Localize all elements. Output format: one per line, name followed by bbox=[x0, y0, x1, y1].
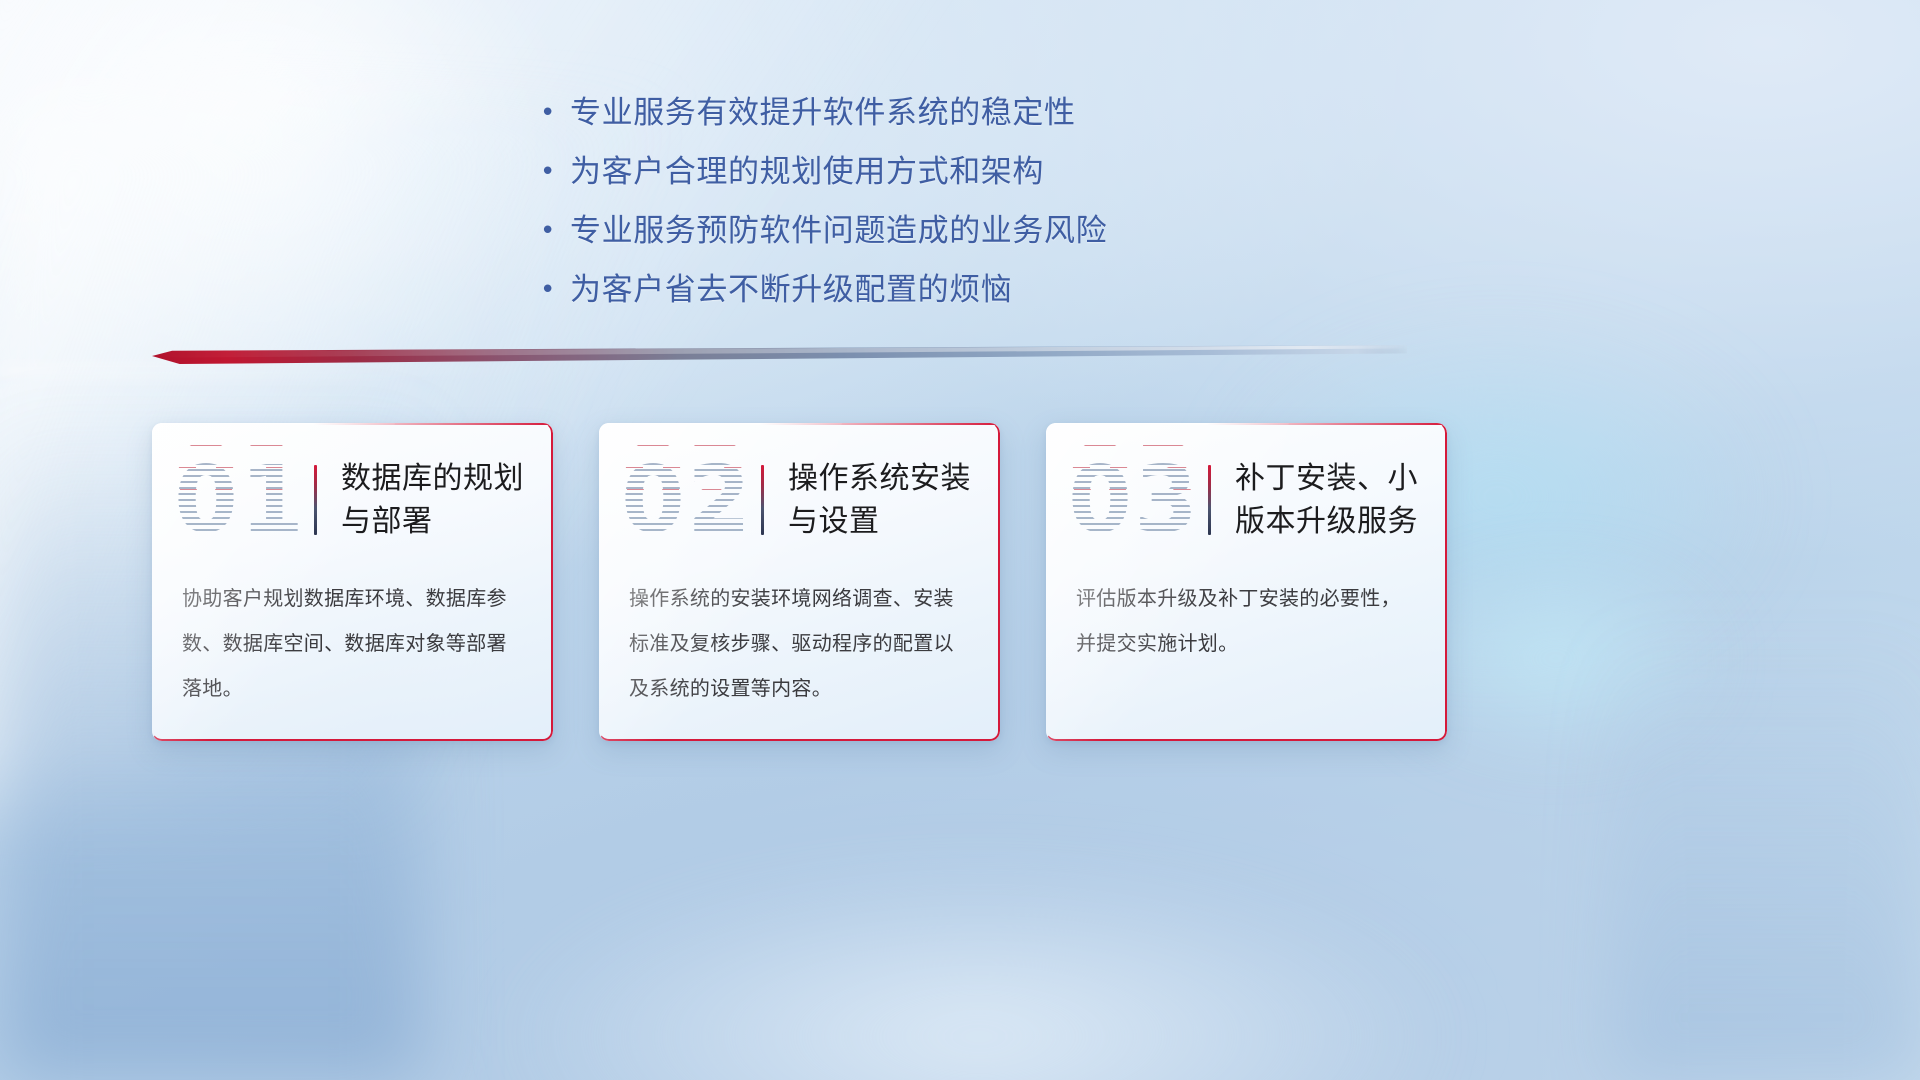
bullet-dot-icon: • bbox=[540, 151, 570, 193]
benefits-bullet-list: • 专业服务有效提升软件系统的稳定性 • 为客户合理的规划使用方式和架构 • 专… bbox=[540, 92, 1107, 311]
card-header: 02 02 操作系统安装与设置 bbox=[599, 423, 1000, 577]
background-right-shade bbox=[1613, 626, 1920, 1080]
bullet-item-text: 为客户省去不断升级配置的烦恼 bbox=[570, 269, 1012, 311]
card-divider-rule bbox=[314, 465, 317, 535]
card-title: 操作系统安装与设置 bbox=[788, 457, 1000, 543]
card-number: 03 bbox=[1064, 445, 1204, 555]
card-header: 03 03 补丁安装、小版本升级服务 bbox=[1046, 423, 1447, 577]
service-card-01[interactable]: 01 01 数据库的规划与部署 协助客户规划数据库环境、数据库参数、数据库空间、… bbox=[152, 423, 553, 741]
bullet-dot-icon: • bbox=[540, 92, 570, 134]
bullet-dot-icon: • bbox=[540, 210, 570, 252]
background-bottom-glow bbox=[307, 799, 1651, 1080]
service-card-03[interactable]: 03 03 补丁安装、小版本升级服务 评估版本升级及补丁安装的必要性，并提交实施… bbox=[1046, 423, 1447, 741]
service-card-list: 01 01 数据库的规划与部署 协助客户规划数据库环境、数据库参数、数据库空间、… bbox=[152, 423, 1447, 741]
list-item: • 专业服务预防软件问题造成的业务风险 bbox=[540, 210, 1107, 252]
card-title: 数据库的规划与部署 bbox=[341, 457, 553, 543]
section-divider bbox=[152, 345, 1407, 364]
background-streak-1 bbox=[0, 367, 576, 373]
card-description: 协助客户规划数据库环境、数据库参数、数据库空间、数据库对象等部署落地。 bbox=[152, 577, 553, 712]
list-item: • 为客户合理的规划使用方式和架构 bbox=[540, 151, 1107, 193]
card-title: 补丁安装、小版本升级服务 bbox=[1235, 457, 1447, 543]
card-number: 02 bbox=[617, 445, 757, 555]
service-card-02[interactable]: 02 02 操作系统安装与设置 操作系统的安装环境网络调查、安装标准及复核步骤、… bbox=[599, 423, 1000, 741]
list-item: • 为客户省去不断升级配置的烦恼 bbox=[540, 269, 1107, 311]
card-divider-rule bbox=[1208, 465, 1211, 535]
bullet-dot-icon: • bbox=[540, 269, 570, 311]
bullet-item-text: 为客户合理的规划使用方式和架构 bbox=[570, 151, 1044, 193]
card-description: 评估版本升级及补丁安装的必要性，并提交实施计划。 bbox=[1046, 577, 1447, 667]
card-divider-rule bbox=[761, 465, 764, 535]
card-header: 01 01 数据库的规划与部署 bbox=[152, 423, 553, 577]
background-streak-2 bbox=[0, 216, 422, 220]
card-number: 01 bbox=[170, 445, 310, 555]
card-description: 操作系统的安装环境网络调查、安装标准及复核步骤、驱动程序的配置以及系统的设置等内… bbox=[599, 577, 1000, 712]
bullet-item-text: 专业服务有效提升软件系统的稳定性 bbox=[570, 92, 1076, 134]
list-item: • 专业服务有效提升软件系统的稳定性 bbox=[540, 92, 1107, 134]
bullet-item-text: 专业服务预防软件问题造成的业务风险 bbox=[570, 210, 1107, 252]
